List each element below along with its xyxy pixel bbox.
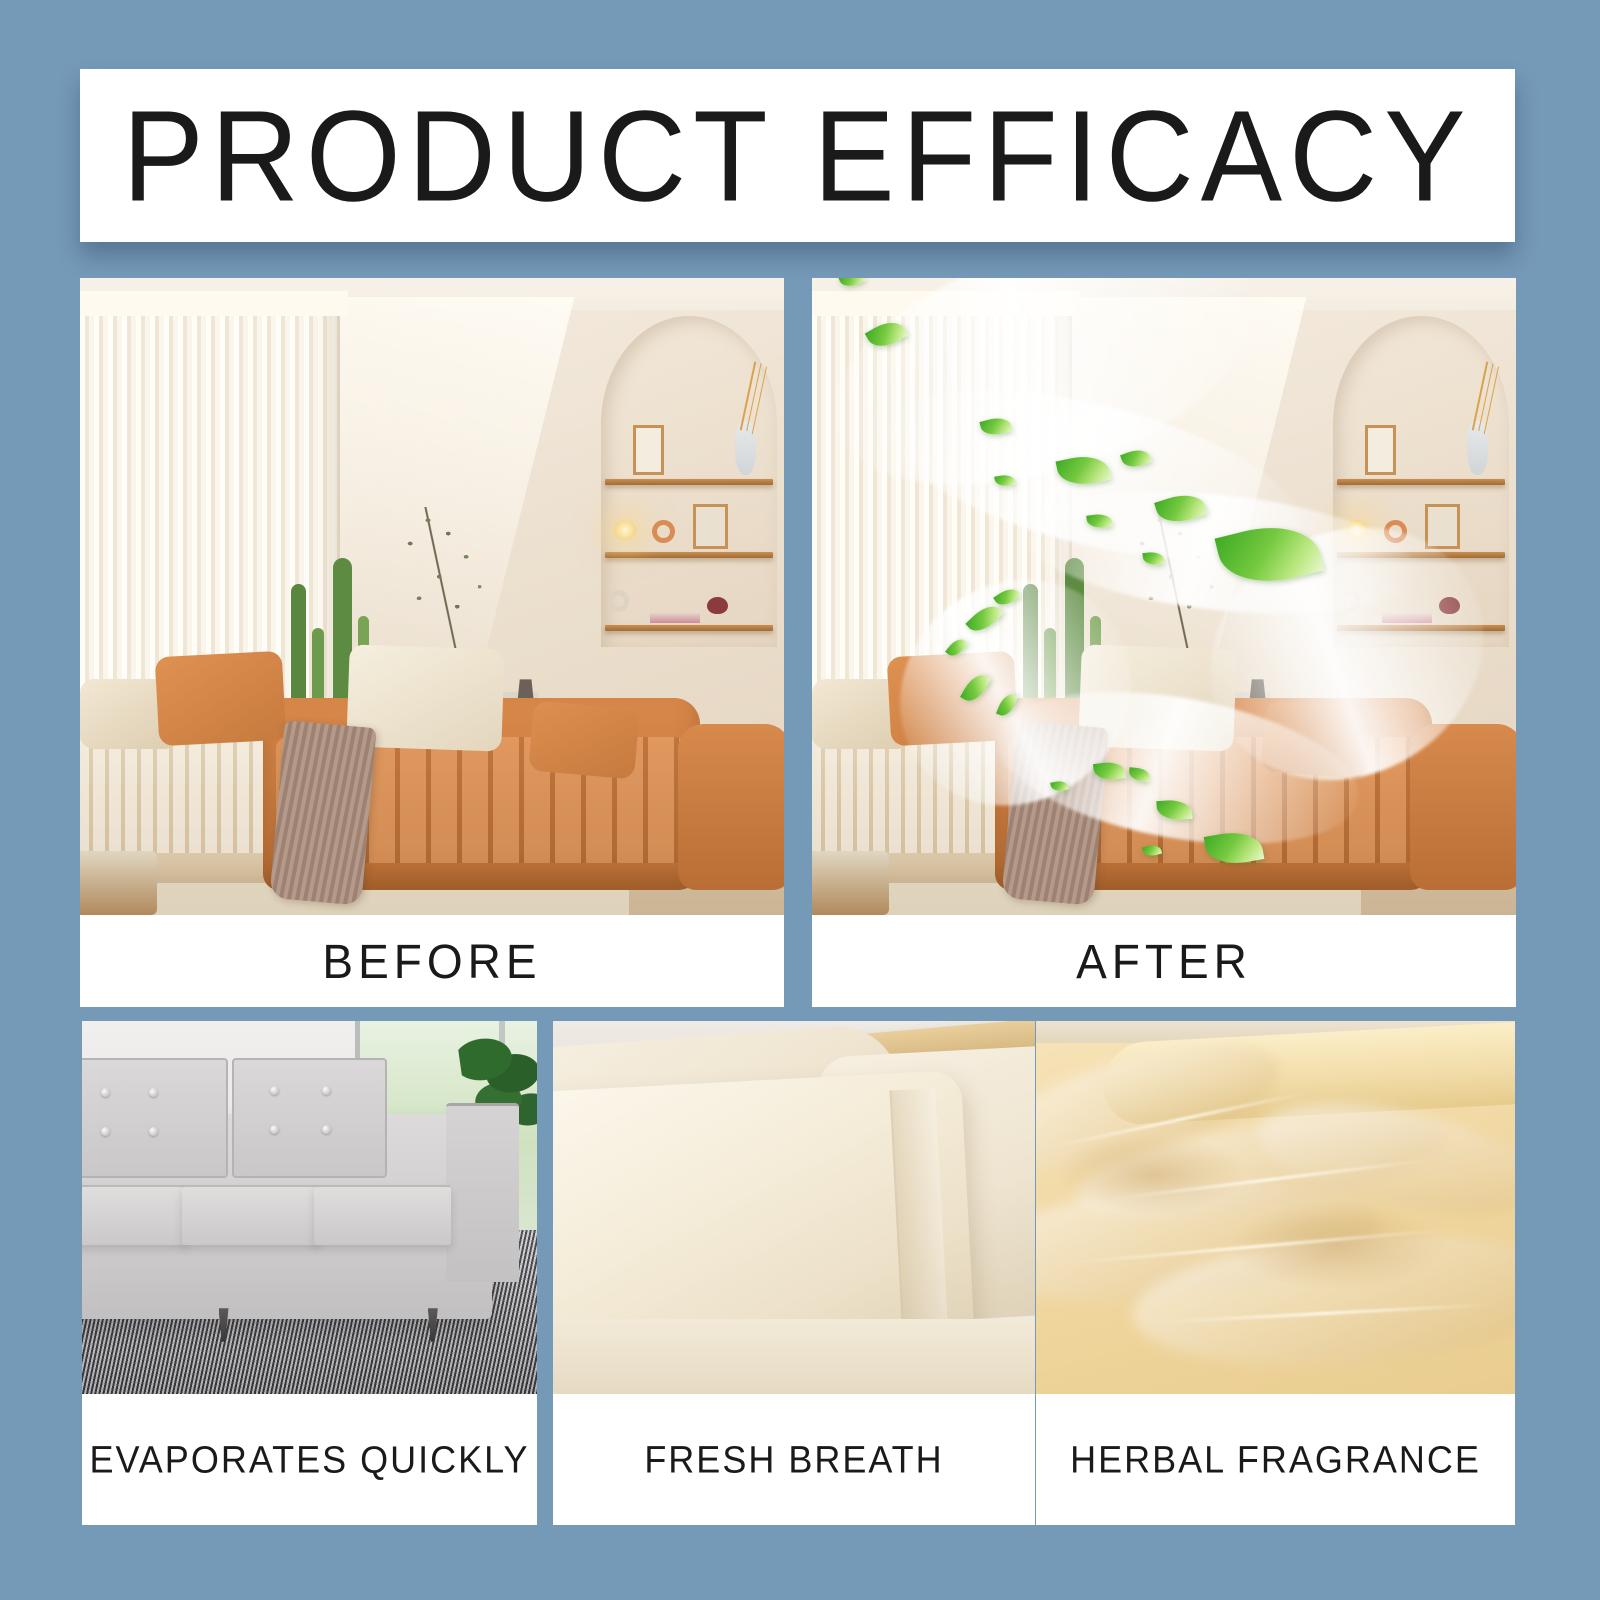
tufting-button	[322, 1086, 331, 1095]
living-room-scene-after	[812, 278, 1516, 915]
round-pot	[707, 597, 728, 615]
feature-photo-sofa	[82, 1021, 537, 1394]
tufting-button	[270, 1086, 279, 1095]
curtain-rail	[80, 291, 348, 316]
before-label: BEFORE	[322, 933, 541, 990]
shelf-middle	[605, 552, 774, 558]
sofa-back-cushion	[232, 1058, 387, 1177]
feature-label-herbal: HERBAL FRAGRANCE	[1070, 1437, 1481, 1481]
seat-cushion	[182, 1185, 319, 1245]
feature-card-evaporates: EVAPORATES QUICKLY	[82, 1021, 537, 1525]
feature-photo-bedding	[1036, 1021, 1515, 1394]
tufting-button	[101, 1127, 110, 1136]
feature-card-herbal: HERBAL FRAGRANCE	[1036, 1021, 1515, 1525]
picture-frame	[633, 425, 665, 476]
coffee-table	[80, 851, 157, 915]
silk-bedding-scene	[1036, 1021, 1515, 1394]
after-card: AFTER	[812, 278, 1516, 1007]
sofa-armrest	[1410, 724, 1516, 890]
seat-cushion	[314, 1185, 451, 1245]
shelf-top	[1337, 479, 1506, 485]
feature-caption: EVAPORATES QUICKLY	[82, 1394, 537, 1525]
tufting-button	[149, 1088, 158, 1097]
art-print	[1425, 504, 1460, 549]
fabric-shadow	[1055, 1133, 1247, 1215]
feature-photo-pillows	[553, 1021, 1035, 1394]
shelf-top	[605, 479, 774, 485]
picture-frame	[1365, 425, 1397, 476]
page-title: PRODUCT EFFICACY	[122, 91, 1472, 220]
tufting-button	[101, 1088, 110, 1097]
after-label: AFTER	[1076, 933, 1252, 990]
feature-caption: HERBAL FRAGRANCE	[1036, 1394, 1515, 1525]
sofa-armrest	[678, 724, 784, 890]
before-caption: BEFORE	[80, 915, 784, 1007]
tan-cushion	[155, 651, 286, 747]
shelf-bottom	[605, 625, 774, 631]
coffee-table	[812, 851, 889, 915]
bed-sheet	[553, 1319, 1035, 1394]
sofa-armrest	[446, 1103, 519, 1282]
before-card: BEFORE	[80, 278, 784, 1007]
art-print	[693, 504, 728, 549]
header-banner: PRODUCT EFFICACY	[80, 69, 1515, 242]
living-room-scene-before	[80, 278, 784, 915]
after-caption: AFTER	[812, 915, 1516, 1007]
tufting-button	[149, 1127, 158, 1136]
feature-caption: FRESH BREATH	[553, 1394, 1035, 1525]
ring-decor	[652, 520, 675, 543]
before-photo	[80, 278, 784, 915]
grey-sofa-scene	[82, 1021, 537, 1394]
tufting-button	[270, 1125, 279, 1134]
glass-vase	[1467, 421, 1488, 475]
glass-vase	[735, 421, 756, 475]
stacked-books	[650, 612, 699, 622]
feature-label-evaporates: EVAPORATES QUICKLY	[89, 1437, 529, 1481]
feature-card-fresh: FRESH BREATH	[553, 1021, 1035, 1525]
seat-cushion	[82, 1185, 187, 1245]
pillow-scene	[553, 1021, 1035, 1394]
throw-blanket	[270, 720, 377, 906]
tufting-button	[322, 1125, 331, 1134]
sofa-back-cushion	[82, 1058, 228, 1177]
after-photo	[812, 278, 1516, 915]
feature-label-fresh: FRESH BREATH	[644, 1437, 943, 1481]
tan-cushion	[528, 700, 639, 779]
